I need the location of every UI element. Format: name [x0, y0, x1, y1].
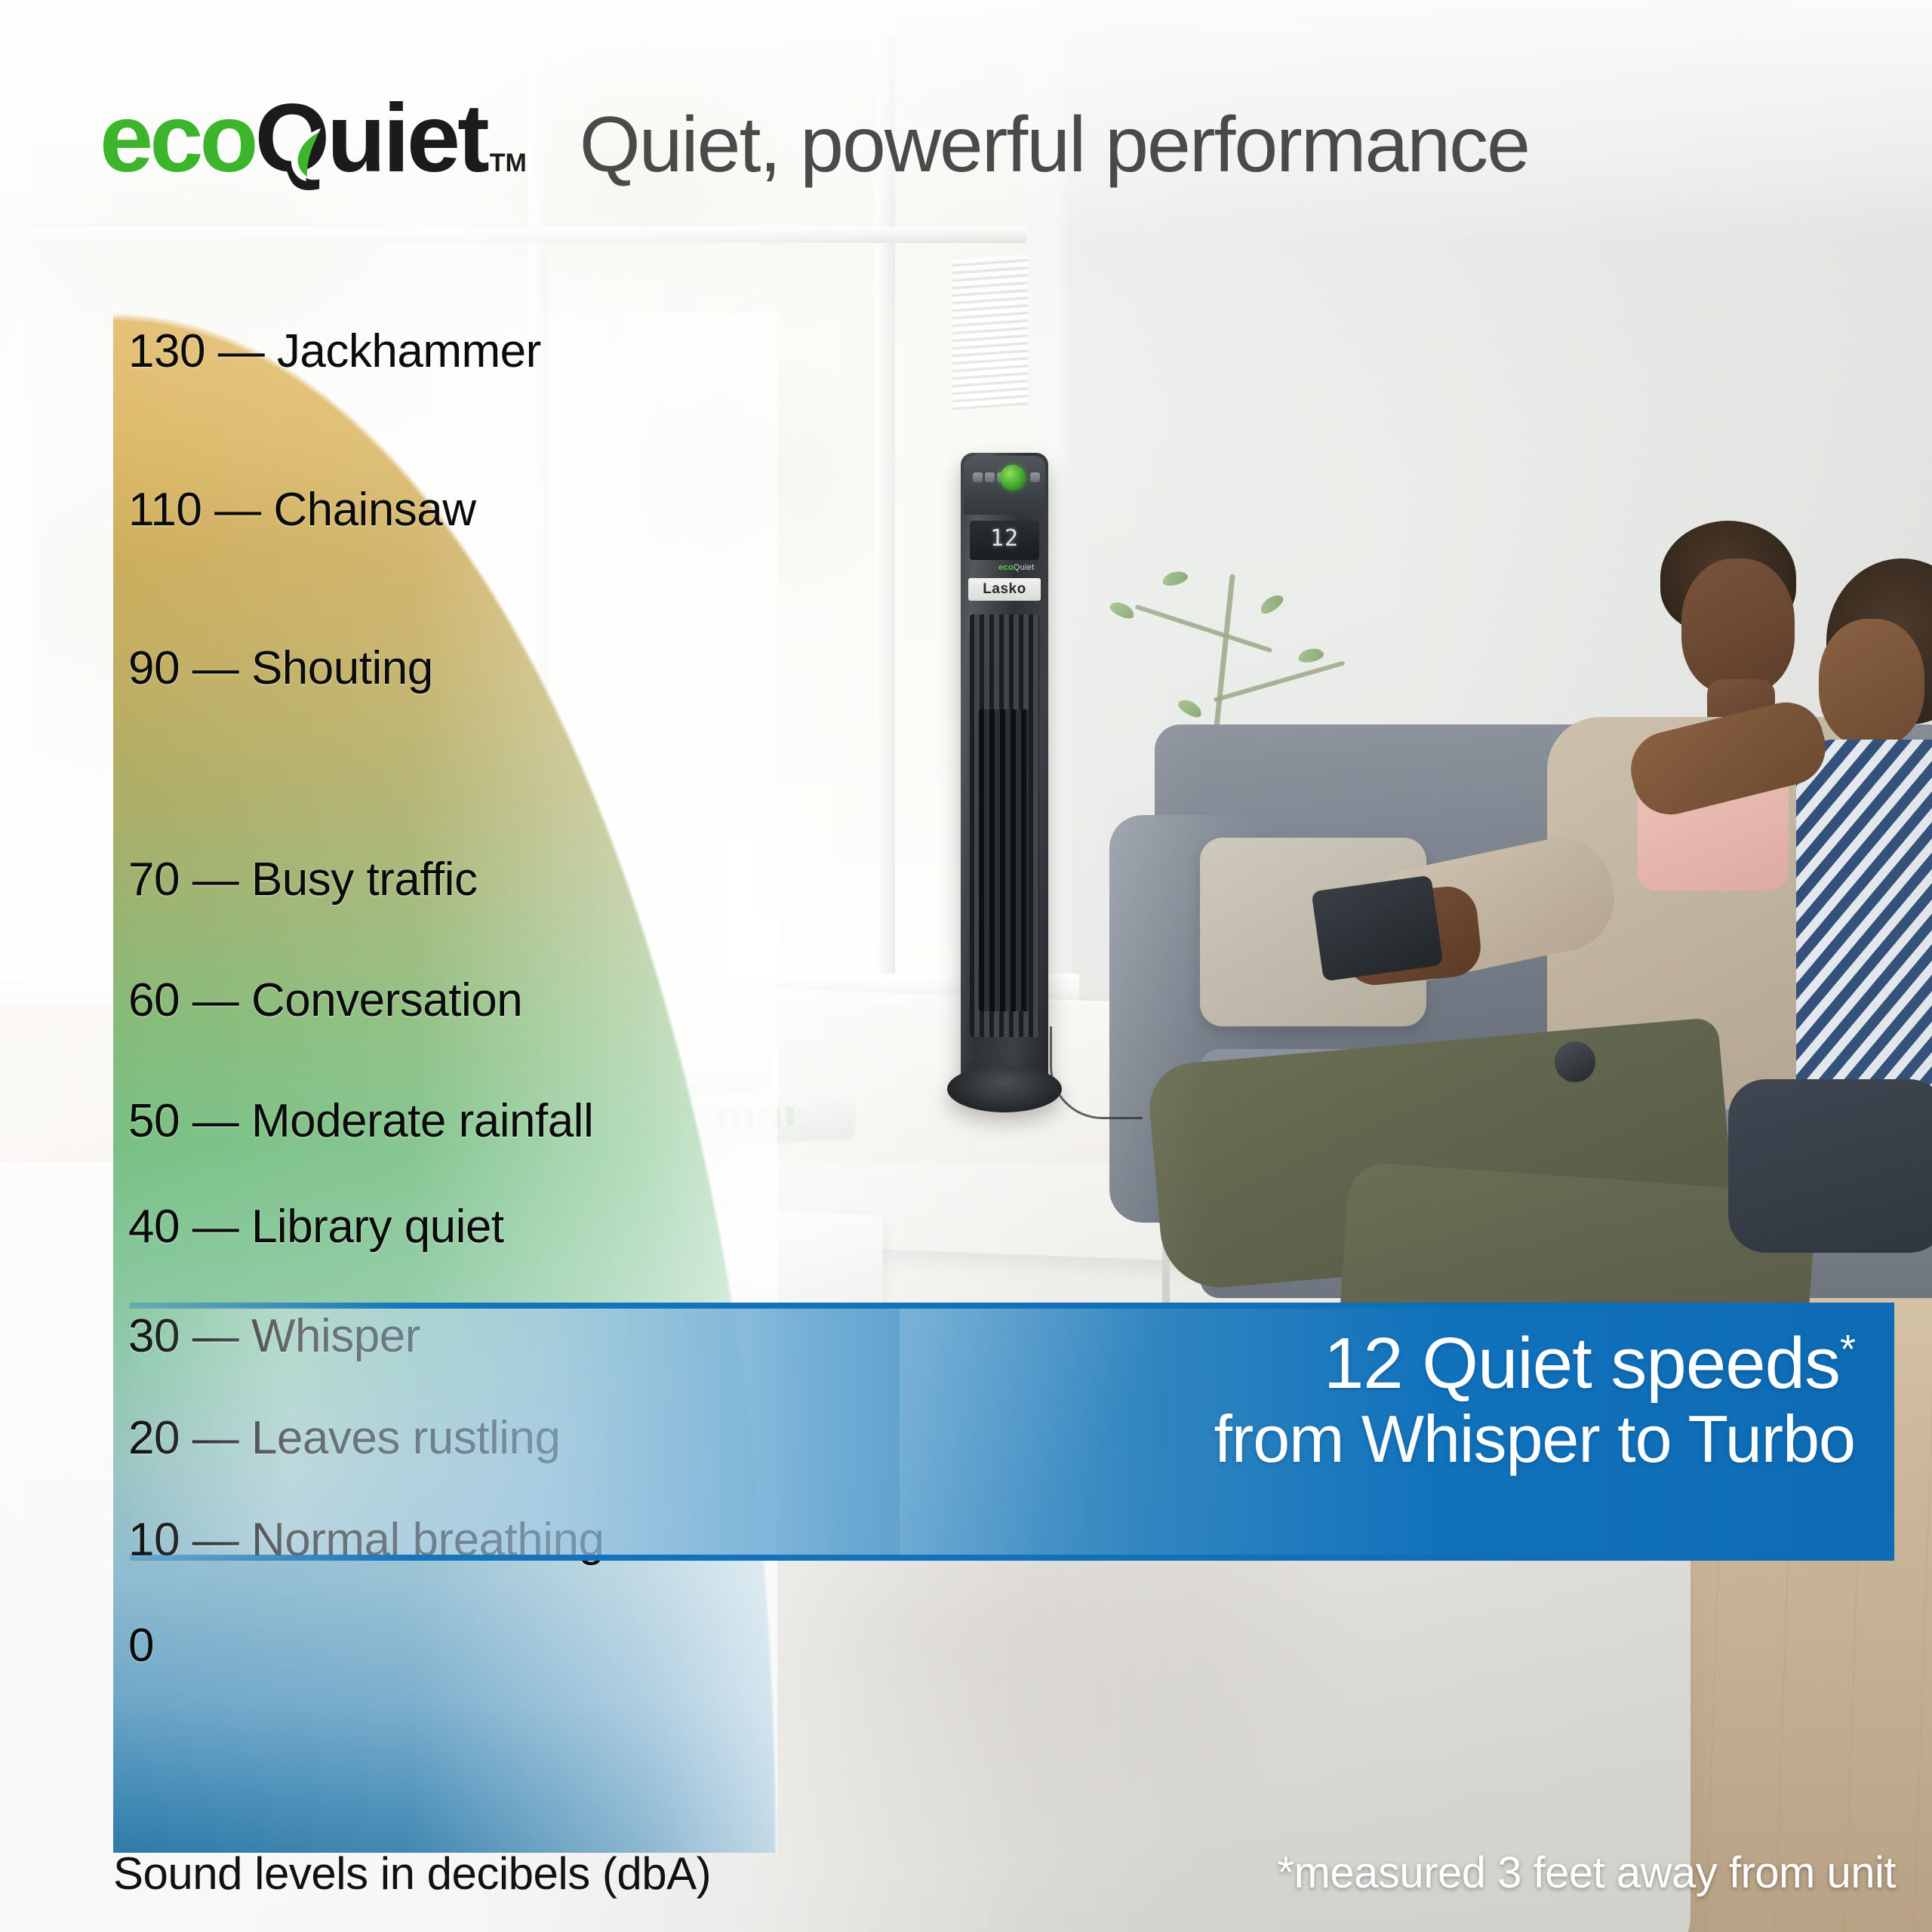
decibel-gradient-wedge — [113, 313, 777, 1853]
tower-fan-product: 12 ecoQuiet Lasko — [947, 453, 1060, 1117]
graphics-overlay: eco Quiet TM Quiet, powerful performance… — [0, 0, 1932, 1932]
scale-row-110: 110 — Chainsaw — [128, 483, 476, 537]
scale-row-90: 90 — Shouting — [128, 641, 433, 695]
banner-top-rule — [130, 1303, 1894, 1309]
fan-oscillate-icon — [985, 472, 995, 482]
banner-text-block: 12 Quiet speeds* from Whisper to Turbo — [1214, 1325, 1855, 1476]
banner-bottom-rule — [130, 1555, 1894, 1561]
fan-speed-dial — [1000, 465, 1026, 491]
scale-row-0: 0 — [128, 1619, 154, 1672]
scale-row-40: 40 — Library quiet — [128, 1200, 504, 1254]
quiet-speeds-banner: 12 Quiet speeds* from Whisper to Turbo — [130, 1307, 1894, 1556]
footer-caption-right: *measured 3 feet away from unit — [1278, 1847, 1896, 1898]
fan-ecoquiet-badge: ecoQuiet — [998, 563, 1035, 572]
banner-subhead: from Whisper to Turbo — [1214, 1402, 1855, 1477]
fan-brand-label: Lasko — [968, 578, 1041, 601]
logo-trademark: TM — [490, 149, 527, 178]
fan-grille-inner — [979, 709, 1029, 1011]
scale-row-130: 130 — Jackhammer — [128, 325, 541, 378]
banner-headline: 12 Quiet speeds* — [1214, 1325, 1855, 1402]
logo-eco-text: eco — [100, 91, 255, 187]
footer-caption-left: Sound levels in decibels (dbA) — [113, 1847, 711, 1900]
header-tagline: Quiet, powerful performance — [580, 106, 1529, 184]
fan-mode-icon — [973, 472, 983, 482]
fan-display: 12 — [970, 521, 1039, 560]
gradient-fade — [113, 313, 777, 1853]
scale-row-60: 60 — Conversation — [128, 974, 522, 1027]
logo-quiet-text: Quiet — [255, 91, 487, 187]
banner-sheen — [900, 1307, 1217, 1556]
infographic-canvas: eco Quiet TM Quiet, powerful performance… — [0, 0, 1932, 1932]
fan-power-icon — [1030, 472, 1040, 482]
fan-base — [947, 1066, 1062, 1112]
scale-row-70: 70 — Busy traffic — [128, 853, 477, 906]
scale-row-50: 50 — Moderate rainfall — [128, 1094, 593, 1148]
header: eco Quiet TM Quiet, powerful performance — [100, 91, 1529, 187]
fan-display-value: 12 — [970, 525, 1039, 552]
ecoquiet-logo: eco Quiet TM — [100, 91, 527, 187]
